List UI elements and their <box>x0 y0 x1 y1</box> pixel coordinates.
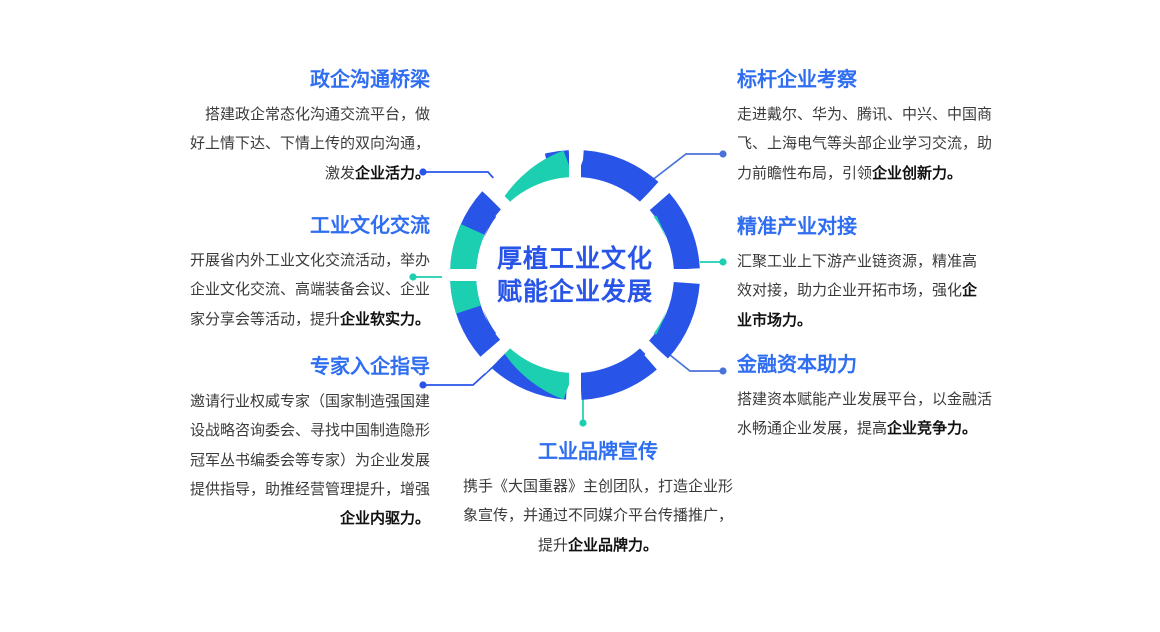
callout-body-line: 业市场力。 <box>737 306 1047 335</box>
callout-title: 工业文化交流 <box>104 214 430 239</box>
callout-body-line: 象宣传，并通过不同媒介平台传播推广， <box>418 501 778 530</box>
callout-body-line: 冠军丛书编委会等专家）为企业发展 <box>104 446 430 475</box>
callout-body: 开展省内外工业文化交流活动，举办企业文化交流、高端装备会议、企业家分享会等活动，… <box>104 246 430 334</box>
callout-body: 搭建资本赋能产业发展平台，以金融活水畅通企业发展，提高企业竞争力。 <box>737 385 1047 444</box>
callout-body: 搭建政企常态化沟通交流平台，做好上情下达、下情上传的双向沟通，激发企业活力。 <box>104 100 430 188</box>
callout-jingzhun-chanye-duijie: 精准产业对接 汇聚工业上下游产业链资源，精准高效对接，助力企业开拓市场，强化企业… <box>737 215 1047 335</box>
callout-title: 标杆企业考察 <box>737 68 1047 93</box>
callout-jinrong-ziben-zhuli: 金融资本助力 搭建资本赋能产业发展平台，以金融活水畅通企业发展，提高企业竞争力。 <box>737 353 1047 444</box>
callout-body-line: 好上情下达、下情上传的双向沟通， <box>104 129 430 158</box>
callout-title: 专家入企指导 <box>104 355 430 380</box>
callout-body-line: 搭建政企常态化沟通交流平台，做 <box>104 100 430 129</box>
callout-body-line: 提升企业品牌力。 <box>418 531 778 560</box>
callout-zhengqi-goutong-qiaoliang: 政企沟通桥梁 搭建政企常态化沟通交流平台，做好上情下达、下情上传的双向沟通，激发… <box>104 68 430 188</box>
callout-body-line: 企业文化交流、高端装备会议、企业 <box>104 275 430 304</box>
callout-body-line: 走进戴尔、华为、腾讯、中兴、中国商 <box>737 100 1047 129</box>
callout-gongye-wenhua-jiaoliu: 工业文化交流 开展省内外工业文化交流活动，举办企业文化交流、高端装备会议、企业家… <box>104 214 430 334</box>
callout-body-line: 开展省内外工业文化交流活动，举办 <box>104 246 430 275</box>
callout-body-line: 邀请行业权威专家（国家制造强国建 <box>104 387 430 416</box>
hub-label: 厚植工业文化 赋能企业发展 <box>430 130 720 420</box>
callout-body: 走进戴尔、华为、腾讯、中兴、中国商飞、上海电气等头部企业学习交流，助力前瞻性布局… <box>737 100 1047 188</box>
callout-body-line: 效对接，助力企业开拓市场，强化企 <box>737 276 1047 305</box>
callout-biaogan-qiye-kaocha: 标杆企业考察 走进戴尔、华为、腾讯、中兴、中国商飞、上海电气等头部企业学习交流，… <box>737 68 1047 188</box>
callout-title: 工业品牌宣传 <box>418 440 778 465</box>
callout-title: 政企沟通桥梁 <box>104 68 430 93</box>
callout-body-line: 激发企业活力。 <box>104 159 430 188</box>
callout-body: 汇聚工业上下游产业链资源，精准高效对接，助力企业开拓市场，强化企业市场力。 <box>737 247 1047 335</box>
callout-body-line: 汇聚工业上下游产业链资源，精准高 <box>737 247 1047 276</box>
hub-label-line-1: 厚植工业文化 <box>497 245 653 273</box>
center-hub: 厚植工业文化 赋能企业发展 <box>430 130 720 420</box>
callout-body-line: 携手《大国重器》主创团队，打造企业形 <box>418 472 778 501</box>
callout-title: 精准产业对接 <box>737 215 1047 240</box>
callout-zhuanjia-ruqi-zhidao: 专家入企指导 邀请行业权威专家（国家制造强国建设战略咨询委会、寻找中国制造隐形冠… <box>104 355 430 533</box>
hub-label-line-2: 赋能企业发展 <box>497 278 653 306</box>
infographic-canvas: 厚植工业文化 赋能企业发展 政企沟通桥梁 搭建政企常态化沟通交流平台，做好上情下… <box>0 0 1160 632</box>
callout-body-line: 搭建资本赋能产业发展平台，以金融活 <box>737 385 1047 414</box>
callout-body-line: 企业内驱力。 <box>104 504 430 533</box>
callout-body: 携手《大国重器》主创团队，打造企业形象宣传，并通过不同媒介平台传播推广，提升企业… <box>418 472 778 560</box>
callout-body-line: 提供指导，助推经营管理提升，增强 <box>104 475 430 504</box>
callout-body-line: 家分享会等活动，提升企业软实力。 <box>104 305 430 334</box>
callout-body: 邀请行业权威专家（国家制造强国建设战略咨询委会、寻找中国制造隐形冠军丛书编委会等… <box>104 387 430 533</box>
callout-body-line: 水畅通企业发展，提高企业竞争力。 <box>737 414 1047 443</box>
callout-gongye-pinpai-xuanchuan: 工业品牌宣传 携手《大国重器》主创团队，打造企业形象宣传，并通过不同媒介平台传播… <box>418 440 778 560</box>
callout-body-line: 设战略咨询委会、寻找中国制造隐形 <box>104 416 430 445</box>
callout-title: 金融资本助力 <box>737 353 1047 378</box>
callout-body-line: 力前瞻性布局，引领企业创新力。 <box>737 159 1047 188</box>
callout-body-line: 飞、上海电气等头部企业学习交流，助 <box>737 129 1047 158</box>
